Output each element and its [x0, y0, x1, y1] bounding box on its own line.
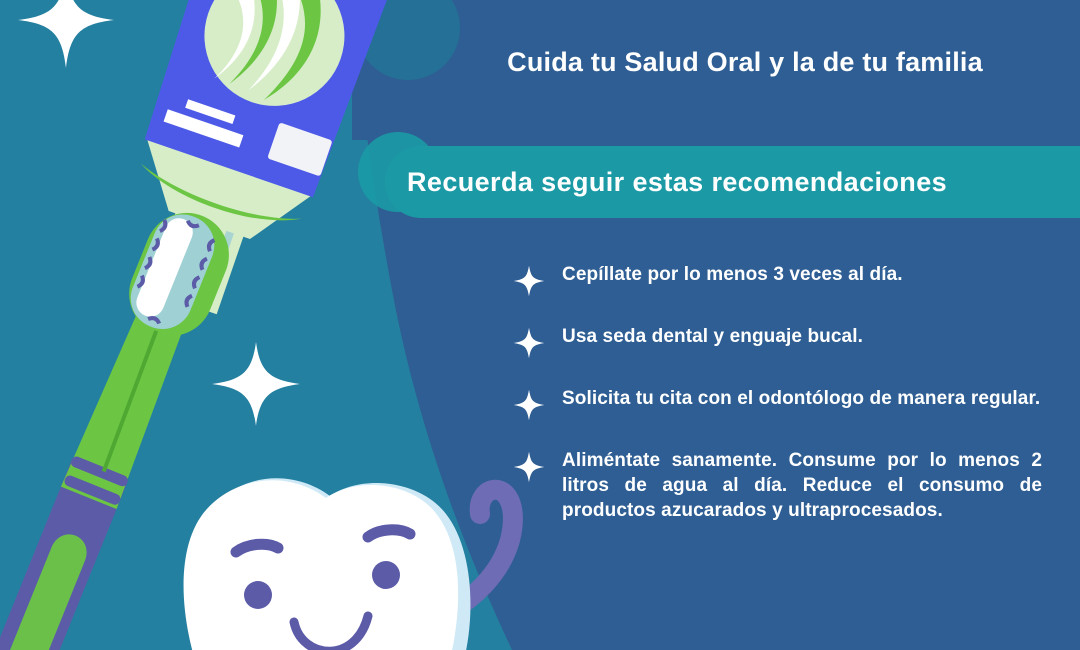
sparkle-icon: [512, 450, 546, 484]
page-title: Cuida tu Salud Oral y la de tu familia: [430, 46, 1060, 78]
poster-canvas: Cuida tu Salud Oral y la de tu familia R…: [0, 0, 1080, 650]
sparkle-icon: [512, 326, 546, 360]
list-item: Solicita tu cita con el odontólogo de ma…: [512, 386, 1042, 422]
recommendations-banner: Recuerda seguir estas recomendaciones: [385, 146, 1080, 218]
banner-label: Recuerda seguir estas recomendaciones: [385, 167, 947, 198]
list-item: Aliméntate sanamente. Consume por lo men…: [512, 448, 1042, 523]
list-item-label: Usa seda dental y enguaje bucal.: [562, 324, 863, 349]
list-item: Usa seda dental y enguaje bucal.: [512, 324, 1042, 360]
list-item: Cepíllate por lo menos 3 veces al día.: [512, 262, 1042, 298]
recommendations-list: Cepíllate por lo menos 3 veces al día. U…: [512, 262, 1042, 549]
sparkle-icon: [512, 388, 546, 422]
list-item-label: Aliméntate sanamente. Consume por lo men…: [562, 448, 1042, 523]
tooth-eye-left: [244, 581, 272, 609]
tooth-eye-right: [372, 561, 400, 589]
list-item-label: Solicita tu cita con el odontólogo de ma…: [562, 386, 1040, 411]
sparkle-icon: [512, 264, 546, 298]
tooth-body: [184, 480, 459, 650]
list-item-label: Cepíllate por lo menos 3 veces al día.: [562, 262, 903, 287]
